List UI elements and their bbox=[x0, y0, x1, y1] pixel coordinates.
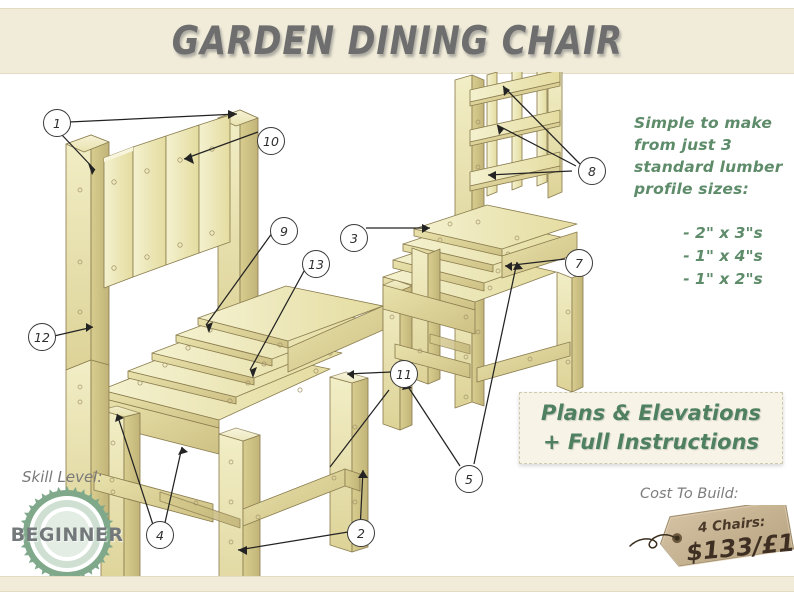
title-banner: GARDEN DINING CHAIR bbox=[0, 8, 794, 74]
lumber-size-1: - 2" x 3"s bbox=[648, 222, 794, 245]
page-title: GARDEN DINING CHAIR bbox=[171, 19, 622, 64]
callout-11[interactable]: 11 bbox=[390, 360, 418, 388]
price-tag: 4 Chairs: $133/£105 bbox=[620, 505, 794, 567]
callout-7[interactable]: 7 bbox=[565, 249, 593, 277]
plans-line-1: Plans & Elevations bbox=[541, 399, 761, 428]
callout-2[interactable]: 2 bbox=[347, 519, 375, 547]
callout-9[interactable]: 9 bbox=[270, 217, 298, 245]
skill-level-value: BEGINNER bbox=[6, 524, 128, 546]
callout-8[interactable]: 8 bbox=[578, 157, 606, 185]
callout-3[interactable]: 3 bbox=[340, 224, 368, 252]
callout-13[interactable]: 13 bbox=[302, 250, 330, 278]
plans-line-2: + Full Instructions bbox=[543, 428, 759, 457]
lumber-sizes-list: - 2" x 3"s - 1" x 4"s - 1" x 2"s bbox=[648, 222, 794, 291]
callout-12[interactable]: 12 bbox=[28, 323, 56, 351]
callout-4[interactable]: 4 bbox=[146, 521, 174, 549]
plans-elevations-box: Plans & Elevations + Full Instructions bbox=[519, 392, 783, 464]
cost-to-build-label: Cost To Build: bbox=[640, 486, 739, 502]
callout-1[interactable]: 1 bbox=[43, 109, 71, 137]
lumber-size-3: - 1" x 2"s bbox=[648, 268, 794, 291]
skill-level-label: Skill Level: bbox=[22, 468, 102, 486]
callout-5[interactable]: 5 bbox=[455, 465, 483, 493]
lumber-size-2: - 1" x 4"s bbox=[648, 245, 794, 268]
bottom-band bbox=[0, 576, 794, 592]
lumber-intro-note: Simple to make from just 3 standard lumb… bbox=[634, 112, 794, 200]
skill-level-badge: BEGINNER bbox=[6, 486, 128, 582]
plan-page: GARDEN DINING CHAIR bbox=[0, 0, 794, 596]
callout-10[interactable]: 10 bbox=[257, 127, 285, 155]
